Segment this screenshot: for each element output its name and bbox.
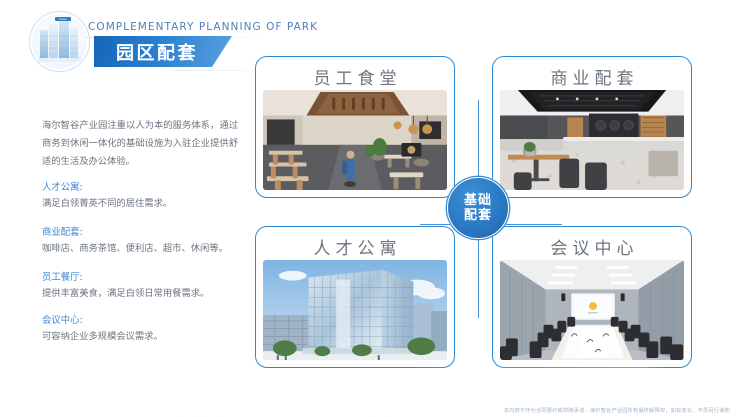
footer-disclaimer: 本内容不作为合同要约或附随承诺，海尔智谷产业园所有最终解释权，如有变化，不再另行… xyxy=(504,407,730,414)
connector-vertical-left xyxy=(478,100,479,178)
section-conference: 会议中心: 可容纳企业多规模会议需求。 xyxy=(42,314,257,345)
section-body: 咖啡店、商务茶馆、便利店、超市、休闲等。 xyxy=(42,242,257,256)
card-commercial[interactable]: 商业配套 xyxy=(492,56,692,198)
intro-paragraph: 海尔智谷产业园注重以人为本的服务体系，通过商务到休闲一体化的基础设施为入驻企业提… xyxy=(42,117,238,171)
connector-horizontal-left xyxy=(420,224,450,225)
center-badge-line2: 配套 xyxy=(464,208,492,223)
section-heading: 会议中心: xyxy=(42,314,257,328)
card-talent-apartment[interactable]: 人才公寓 xyxy=(255,226,455,368)
card-conference-center[interactable]: 会议中心 xyxy=(492,226,692,368)
card-title: 会议中心 xyxy=(493,234,691,259)
section-body: 可容纳企业多规模会议需求。 xyxy=(42,330,257,344)
section-commercial: 商业配套: 咖啡店、商务茶馆、便利店、超市、休闲等。 xyxy=(42,226,257,257)
talent-apartment-photo xyxy=(263,260,447,360)
section-body: 提供丰富美食，满足白领日常用餐需求。 xyxy=(42,287,257,301)
page-title-ribbon: 园区配套 xyxy=(94,36,232,67)
section-staff-canteen: 员工餐厅: 提供丰富美食，满足白领日常用餐需求。 xyxy=(42,271,257,302)
commercial-cafe-photo xyxy=(500,90,684,190)
connector-horizontal-lower xyxy=(506,224,562,225)
connector-vertical-lower xyxy=(478,238,479,318)
page-title: 园区配套 xyxy=(116,39,198,65)
header-english-title: COMPLEMENTARY PLANNING OF PARK xyxy=(88,21,318,33)
haier-building-logo-icon: Haier xyxy=(29,11,90,72)
card-title: 商业配套 xyxy=(493,64,691,89)
center-badge-line1: 基础 xyxy=(464,193,492,208)
section-heading: 人才公寓: xyxy=(42,181,257,195)
section-body: 满足白领菁英不同的居住需求。 xyxy=(42,197,257,211)
card-staff-canteen[interactable]: 员工食堂 xyxy=(255,56,455,198)
section-heading: 员工餐厅: xyxy=(42,271,257,285)
center-badge: 基础 配套 xyxy=(447,177,509,239)
slide-root: Haier COMPLEMENTARY PLANNING OF PARK 园区配… xyxy=(0,0,740,417)
section-heading: 商业配套: xyxy=(42,226,257,240)
svg-text:Haier: Haier xyxy=(59,17,67,21)
card-title: 员工食堂 xyxy=(256,64,454,89)
staff-canteen-photo xyxy=(263,90,447,190)
section-talent-apartment: 人才公寓: 满足白领菁英不同的居住需求。 xyxy=(42,181,257,212)
conference-center-photo xyxy=(500,260,684,360)
card-title: 人才公寓 xyxy=(256,234,454,259)
